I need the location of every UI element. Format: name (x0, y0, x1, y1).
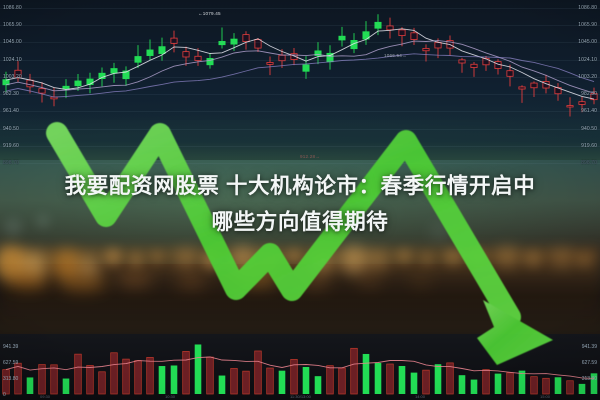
stock-chart-banner: 1086.801065.901045.001024.101003.20982.3… (0, 0, 600, 400)
vignette-overlay (0, 0, 600, 400)
